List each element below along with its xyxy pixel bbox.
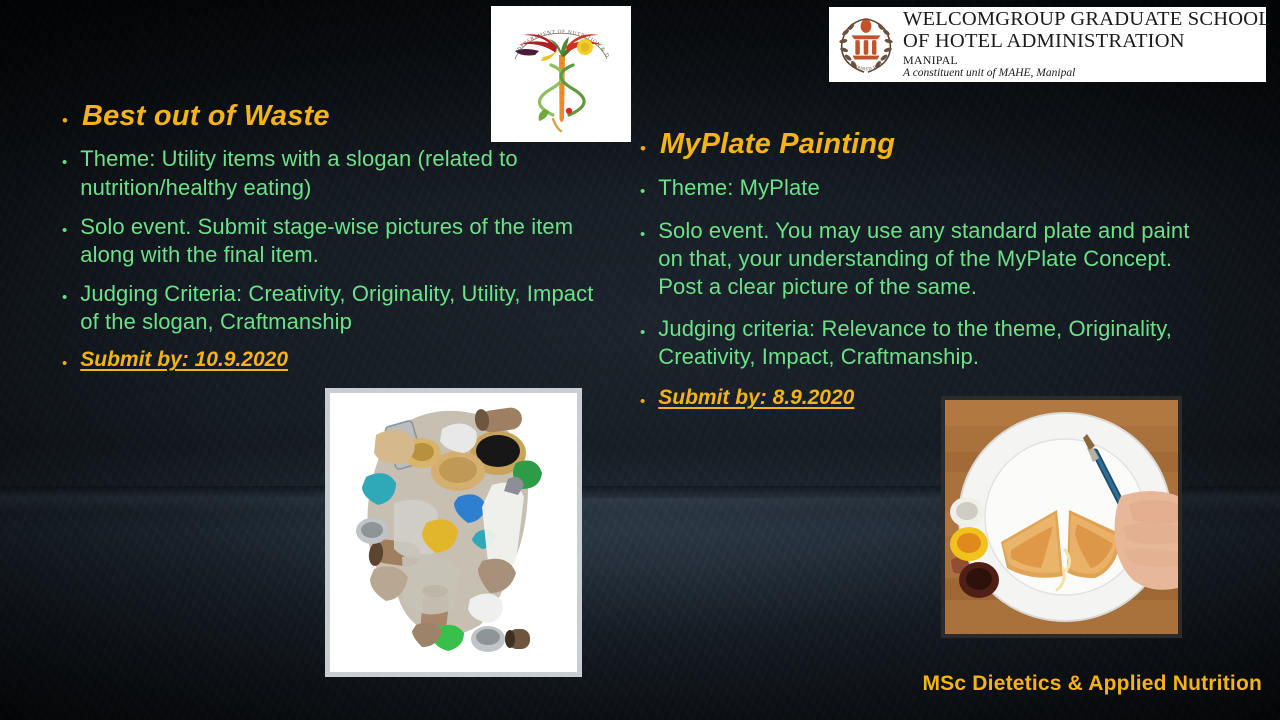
- right-bullet-text: Solo event. You may use any standard pla…: [658, 217, 1200, 301]
- myplate-painting-illustration: [945, 400, 1178, 634]
- welcomgroup-emblem-icon: INSPIRED BY LIFE: [835, 13, 897, 77]
- bullet-icon: •: [62, 100, 68, 129]
- gsha-logo-text: WELCOMGROUP GRADUATE SCHOOL OF HOTEL ADM…: [903, 9, 1271, 80]
- left-heading-row: • Best out of Waste: [62, 100, 618, 132]
- left-bullet-format: • Solo event. Submit stage-wise pictures…: [62, 213, 618, 269]
- bullet-icon: •: [62, 213, 67, 238]
- bullet-icon: •: [62, 347, 67, 371]
- left-bullet-theme: • Theme: Utility items with a slogan (re…: [62, 145, 618, 201]
- footer-program-title: MSc Dietetics & Applied Nutrition: [922, 672, 1262, 696]
- gsha-location: MANIPAL: [903, 54, 1271, 66]
- bullet-icon: •: [62, 280, 67, 305]
- left-bullet-text: Theme: Utility items with a slogan (rela…: [80, 145, 618, 201]
- plate-painting-photo: [941, 396, 1182, 638]
- bullet-icon: •: [640, 217, 645, 242]
- bullet-icon: •: [640, 174, 645, 199]
- right-bullet-text: Theme: MyPlate: [658, 174, 1200, 202]
- left-event-title: Best out of Waste: [82, 100, 618, 132]
- right-bullet-judging: • Judging criteria: Relevance to the the…: [640, 315, 1200, 371]
- slide-canvas: DEPARTMENT OF NUTRITION & DIETETICS: [0, 0, 1280, 720]
- right-bullet-format: • Solo event. You may use any standard p…: [640, 217, 1200, 301]
- welcomgroup-gsha-logo: INSPIRED BY LIFE WELCOMGROUP GRADUATE SC…: [829, 7, 1266, 82]
- gsha-title-line2: OF HOTEL ADMINISTRATION: [903, 31, 1271, 52]
- left-event-column: • Best out of Waste • Theme: Utility ite…: [62, 100, 618, 374]
- bullet-icon: •: [640, 315, 645, 340]
- left-bullet-judging: • Judging Criteria: Creativity, Original…: [62, 280, 618, 336]
- gsha-title-line1: WELCOMGROUP GRADUATE SCHOOL: [903, 9, 1271, 30]
- gsha-affiliation: A constituent unit of MAHE, Manipal: [903, 68, 1271, 80]
- waste-head-photo: [325, 388, 582, 677]
- left-bullet-text: Judging Criteria: Creativity, Originalit…: [80, 280, 618, 336]
- right-bullet-text: Judging criteria: Relevance to the theme…: [658, 315, 1200, 371]
- bullet-icon: •: [62, 145, 67, 170]
- right-event-title: MyPlate Painting: [660, 128, 1200, 160]
- left-submit-deadline-row: • Submit by: 10.9.2020: [62, 347, 618, 373]
- left-submit-deadline: Submit by: 10.9.2020: [80, 347, 618, 373]
- bullet-icon: •: [640, 128, 646, 157]
- svg-text:DEPARTMENT OF NUTRITION & DIET: DEPARTMENT OF NUTRITION & DIETETICS: [499, 13, 610, 59]
- right-heading-row: • MyPlate Painting: [640, 128, 1200, 160]
- right-event-column: • MyPlate Painting • Theme: MyPlate • So…: [640, 128, 1200, 412]
- right-bullet-theme: • Theme: MyPlate: [640, 174, 1200, 202]
- waste-pile-head-illustration: [330, 393, 577, 672]
- bullet-icon: •: [640, 385, 645, 409]
- left-bullet-text: Solo event. Submit stage-wise pictures o…: [80, 213, 618, 269]
